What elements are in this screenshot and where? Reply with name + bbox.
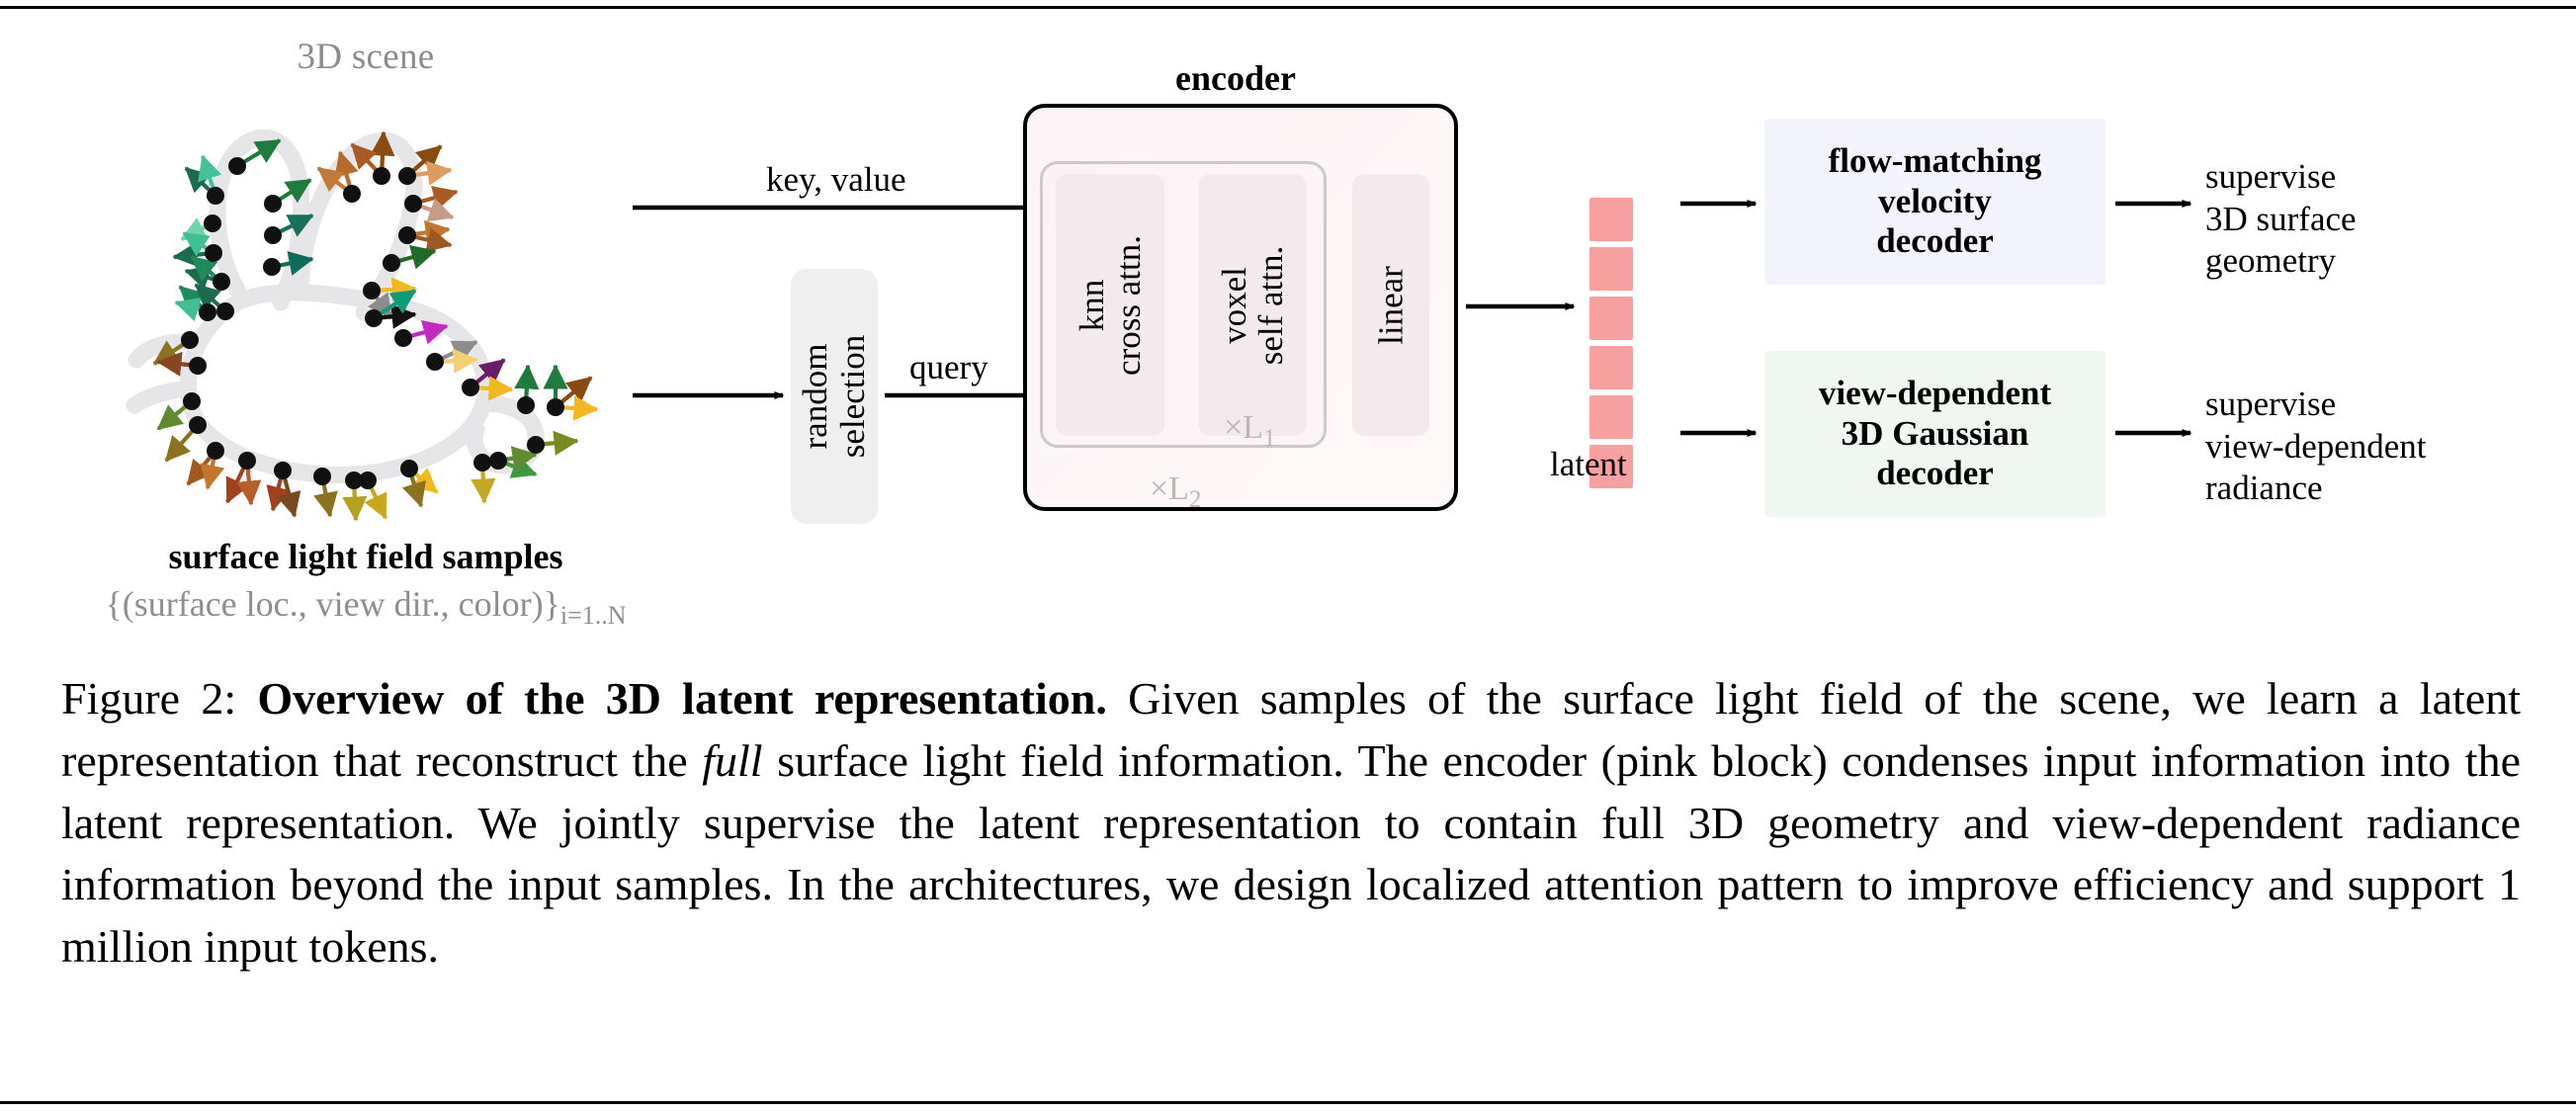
- flow-matching-velocity-decoder[interactable]: flow-matching velocity decoder: [1764, 119, 2105, 285]
- random-selection-block[interactable]: random selection: [791, 269, 878, 524]
- knn-cross-attention-cell[interactable]: knn cross attn.: [1056, 174, 1164, 436]
- supervise-radiance-line3: radiance: [2205, 468, 2427, 510]
- linear-label: linear: [1372, 266, 1409, 345]
- knn-cross-attention-label: knn cross attn.: [1073, 235, 1147, 376]
- inner-repeat-prefix: ×L: [1224, 409, 1263, 446]
- gaussian-decoder-line3: decoder: [1819, 454, 2051, 494]
- gaussian-decoder-label: view-dependent 3D Gaussian decoder: [1819, 374, 2051, 494]
- outer-repeat-sub: 2: [1189, 486, 1202, 513]
- supervise-geometry-label: supervise 3D surface geometry: [2205, 156, 2357, 283]
- linear-line1: linear: [1372, 266, 1409, 345]
- flow-decoder-line3: decoder: [1829, 221, 2042, 262]
- gaussian-decoder-line1: view-dependent: [1819, 374, 2051, 414]
- supervise-geometry-line2: 3D surface: [2205, 199, 2357, 241]
- random-selection-label: random selection: [797, 335, 872, 458]
- page-rule-bottom: [0, 1101, 2576, 1104]
- key-value-label: key, value: [766, 160, 906, 200]
- flow-decoder-line2: velocity: [1829, 182, 2042, 222]
- knn-line1: knn: [1073, 235, 1110, 376]
- linear-cell[interactable]: linear: [1352, 174, 1429, 436]
- encoder-title: encoder: [1018, 57, 1453, 99]
- voxel-self-attention-cell[interactable]: voxel self attn.: [1198, 174, 1307, 436]
- latent-token: [1589, 198, 1633, 241]
- figure-caption-label: Figure 2:: [61, 673, 236, 724]
- query-label: query: [909, 348, 988, 387]
- latent-token: [1589, 297, 1633, 340]
- flow-decoder-line1: flow-matching: [1829, 141, 2042, 182]
- outer-repeat-multiplier: ×L2: [1150, 470, 1201, 514]
- supervise-radiance-line2: view-dependent: [2205, 426, 2427, 469]
- supervise-geometry-line1: supervise: [2205, 156, 2357, 199]
- random-selection-line2: selection: [834, 335, 872, 458]
- supervise-radiance-label: supervise view-dependent radiance: [2205, 384, 2427, 510]
- latent-token: [1589, 247, 1633, 291]
- flow-decoder-label: flow-matching velocity decoder: [1829, 141, 2042, 262]
- voxel-line2: self attn.: [1252, 245, 1289, 365]
- latent-label: latent: [1550, 445, 1627, 484]
- view-dependent-3d-gaussian-decoder[interactable]: view-dependent 3D Gaussian decoder: [1764, 351, 2105, 517]
- inner-repeat-sub: 1: [1263, 425, 1276, 452]
- voxel-line1: voxel: [1216, 245, 1252, 365]
- gaussian-decoder-line2: 3D Gaussian: [1819, 414, 2051, 455]
- inner-repeat-multiplier: ×L1: [1224, 409, 1275, 453]
- architecture-diagram: 3D scene: [0, 10, 2576, 623]
- latent-token: [1589, 395, 1633, 439]
- random-selection-line1: random: [797, 335, 834, 458]
- knn-line2: cross attn.: [1110, 235, 1147, 376]
- latent-token: [1589, 346, 1633, 389]
- supervise-radiance-line1: supervise: [2205, 384, 2427, 426]
- figure-caption-title: Overview of the 3D latent representation…: [257, 673, 1106, 724]
- figure-caption-emphasis: full: [702, 735, 762, 786]
- outer-repeat-prefix: ×L: [1150, 470, 1189, 507]
- figure-caption: Figure 2: Overview of the 3D latent repr…: [61, 668, 2521, 979]
- page-rule-top: [0, 6, 2576, 9]
- figure-page: 3D scene: [0, 0, 2576, 1111]
- supervise-geometry-line3: geometry: [2205, 240, 2357, 283]
- voxel-self-attention-label: voxel self attn.: [1216, 245, 1289, 365]
